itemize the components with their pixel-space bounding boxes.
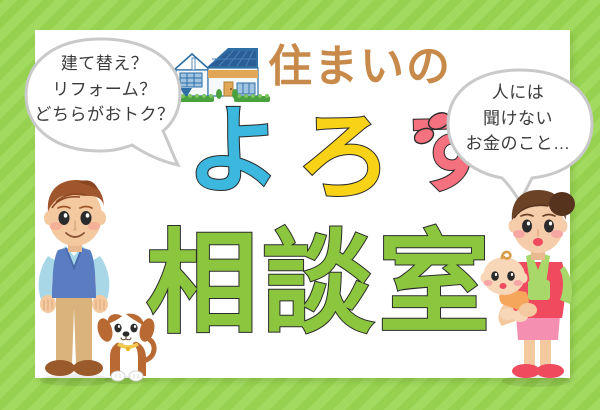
dog-illustration [96, 312, 162, 389]
woman-with-baby-illustration [478, 188, 588, 393]
headline-kana-2: ろ [296, 110, 392, 206]
headline-kanji-3: 室 [378, 228, 490, 340]
headline-kanji-2: 談 [262, 228, 374, 340]
speech-bubble-right: 人には 聞けない お金のこと… [432, 58, 600, 208]
speech-bubble-left: 建て替え？ リフォーム？ どちらがおトク？ [8, 25, 208, 180]
headline-subtitle: 住まいの [268, 45, 452, 89]
speech-bubble-left-text: 建て替え？ リフォーム？ どちらがおトク？ [22, 51, 187, 128]
speech-bubble-right-text: 人には 聞けない お金のこと… [448, 80, 588, 157]
banner-root: 住まいの よ ろ す 相 談 室 建て替え？ リフォーム？ どちらがおトク？ 人… [0, 0, 600, 410]
headline-kanji-1: 相 [146, 228, 258, 340]
headline-kanji-row: 相 談 室 [146, 228, 490, 340]
